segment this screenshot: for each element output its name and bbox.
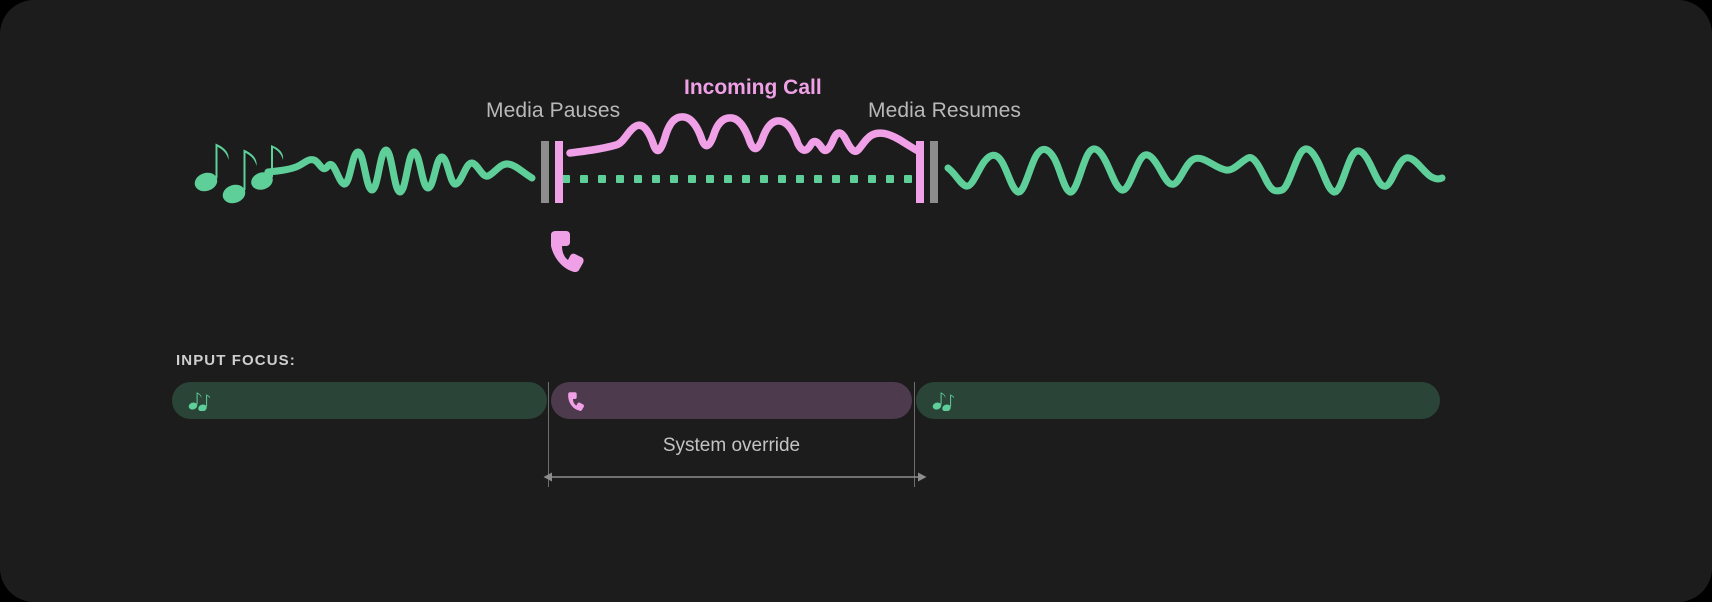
media-resumes-marker [916,141,938,203]
focus-bar-media-after[interactable] [916,382,1440,419]
waveform-timeline: Media Pauses Media Resumes Incoming Call [0,0,1712,320]
incoming-call-label: Incoming Call [684,76,822,100]
input-focus-section: INPUT FOCUS: [0,330,1712,602]
focus-bar-call[interactable] [551,382,912,419]
input-focus-label: INPUT FOCUS: [176,352,296,369]
media-waveform-after [948,149,1442,192]
media-pauses-label: Media Pauses [486,99,620,123]
phone-icon [567,391,587,411]
phone-icon [551,231,584,272]
media-pauses-marker [541,141,563,203]
music-note-icon [188,391,210,411]
media-resumes-label: Media Resumes [868,99,1021,123]
dotted-muted-track [562,175,912,183]
diagram-card: Media Pauses Media Resumes Incoming Call… [0,0,1712,602]
double-arrow-icon [540,466,930,488]
media-waveform-before [268,150,532,192]
system-override-label: System override [551,435,912,457]
focus-bar-media-before[interactable] [172,382,547,419]
music-note-icon [932,391,954,411]
